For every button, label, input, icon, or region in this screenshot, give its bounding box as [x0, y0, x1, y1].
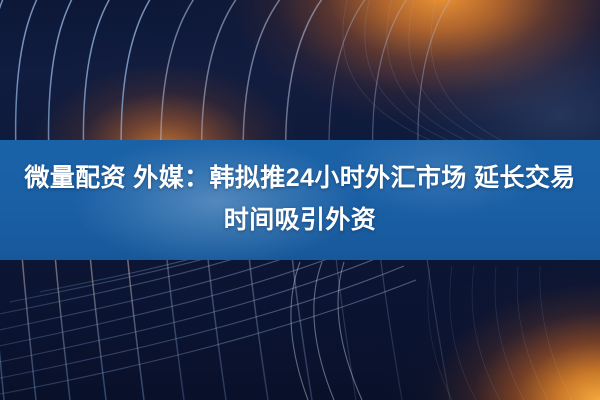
news-banner-image: 微量配资 外媒：韩拟推24小时外汇市场 延长交易时间吸引外资: [0, 0, 600, 400]
headline-band: 微量配资 外媒：韩拟推24小时外汇市场 延长交易时间吸引外资: [0, 140, 600, 260]
headline-title: 微量配资 外媒：韩拟推24小时外汇市场 延长交易时间吸引外资: [20, 140, 580, 241]
